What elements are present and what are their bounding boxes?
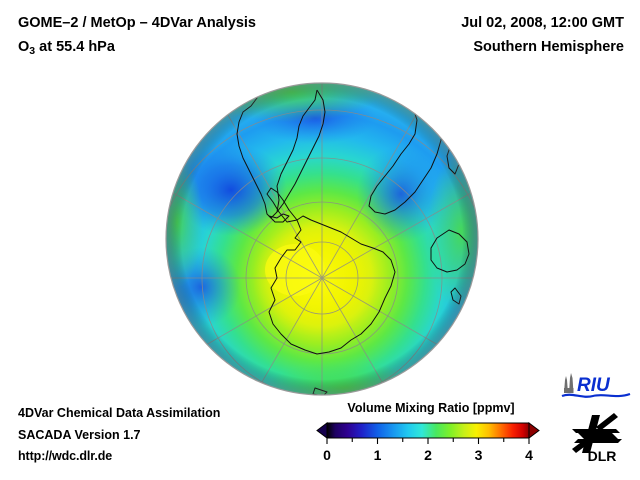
globe-svg: [165, 82, 479, 396]
dlr-wordmark: DLR: [588, 448, 617, 464]
species-subscript: 3: [29, 45, 35, 57]
dlr-cross-icon: [572, 413, 622, 453]
dlr-logo: DLR: [566, 409, 630, 470]
riu-logo: RIU: [560, 371, 632, 406]
riu-towers-icon: [564, 373, 574, 393]
coastline-south-fragment: [191, 372, 201, 386]
footer-line-assimilation: 4DVar Chemical Data Assimilation: [18, 403, 220, 425]
colorbar-tick-label: 4: [525, 447, 533, 463]
colorbar-max-arrow: [529, 423, 539, 438]
footer-line-url[interactable]: http://wdc.dlr.de: [18, 446, 220, 468]
colorbar-tick-label: 2: [424, 447, 432, 463]
colorbar-tick-label: 1: [374, 447, 382, 463]
colorbar-tick-label: 0: [323, 447, 331, 463]
colorbar-ticks: [327, 438, 529, 444]
globe-map: [165, 82, 479, 396]
footer-left-block: 4DVar Chemical Data Assimilation SACADA …: [18, 403, 220, 468]
species-symbol: O: [18, 39, 29, 55]
limb-shading: [166, 83, 478, 395]
riu-logo-svg: RIU: [560, 371, 632, 401]
colorbar-tick-labels: 01234: [323, 447, 533, 463]
level-text: at 55.4 hPa: [35, 39, 115, 55]
footer-line-version: SACADA Version 1.7: [18, 425, 220, 447]
dlr-logo-svg: DLR: [566, 409, 630, 465]
colorbar-gradient: [327, 423, 529, 438]
colorbar-tick-label: 3: [475, 447, 483, 463]
colorbar-block: Volume Mixing Ratio [ppmv] 01234: [312, 401, 544, 469]
colorbar-title: Volume Mixing Ratio [ppmv]: [318, 401, 544, 415]
header-right-block: Jul 02, 2008, 12:00 GMT Southern Hemisph…: [294, 11, 624, 59]
region-label: Southern Hemisphere: [294, 35, 624, 59]
colorbar-svg: 01234: [312, 419, 544, 469]
datetime-label: Jul 02, 2008, 12:00 GMT: [294, 11, 624, 35]
colorbar-min-arrow: [317, 423, 327, 438]
riu-wordmark: RIU: [577, 375, 611, 396]
